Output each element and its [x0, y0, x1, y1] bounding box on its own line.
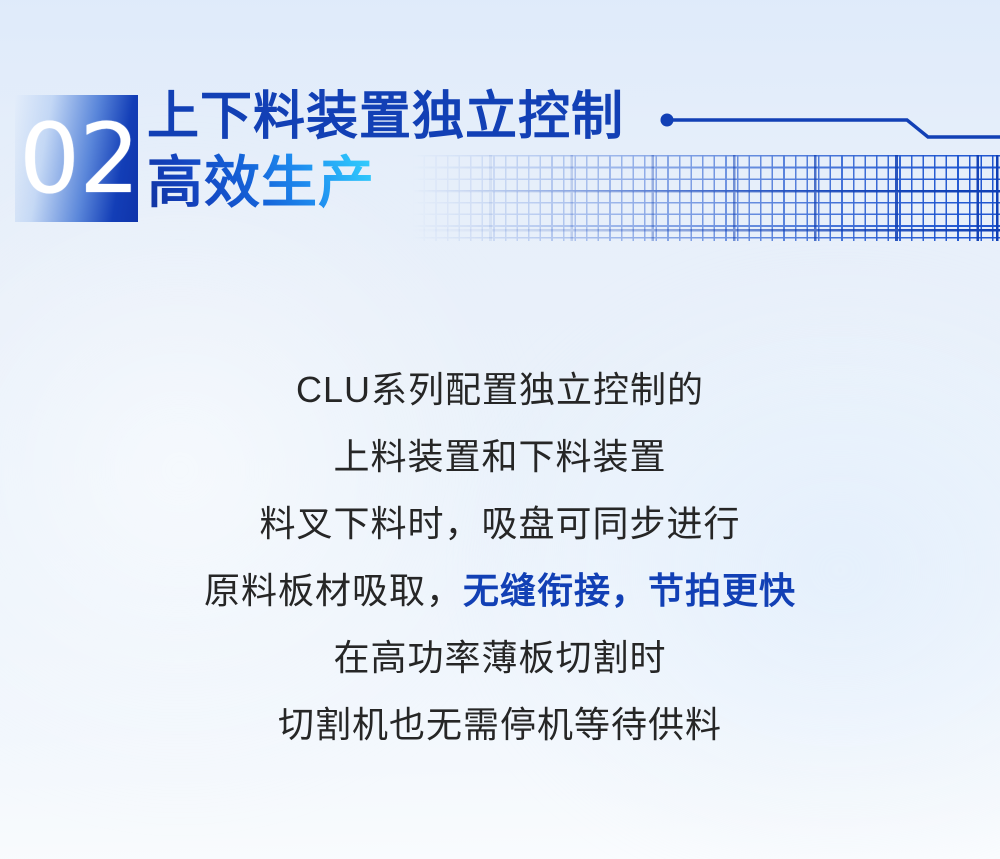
page-title-line-2: 高效生产 [147, 150, 375, 216]
body-line: 原料板材吸取，无缝衔接，节拍更快 [0, 557, 1000, 624]
body-line: 料叉下料时，吸盘可同步进行 [0, 490, 1000, 557]
body-line-text: CLU系列配置独立控制的 [296, 369, 704, 410]
page-title-line-1: 上下料装置独立控制 [147, 86, 624, 148]
connector-polyline-icon [655, 100, 1000, 160]
body-line: 上料装置和下料装置 [0, 423, 1000, 490]
section-number: 02 [19, 111, 138, 207]
body-line-text: 上料装置和下料装置 [333, 436, 666, 477]
section-number-badge: 02 [15, 95, 138, 222]
body-line-highlight: 无缝衔接，节拍更快 [463, 570, 796, 611]
body-line-text: 料叉下料时，吸盘可同步进行 [259, 503, 740, 544]
body-line: 在高功率薄板切割时 [0, 624, 1000, 691]
body-line-text: 在高功率薄板切割时 [333, 637, 666, 678]
body-line: CLU系列配置独立控制的 [0, 356, 1000, 423]
grid-pattern-accent-icon [412, 155, 1000, 241]
body-line: 切割机也无需停机等待供料 [0, 691, 1000, 758]
body-copy: CLU系列配置独立控制的 上料装置和下料装置 料叉下料时，吸盘可同步进行 原料板… [0, 356, 1000, 758]
body-line-text: 原料板材吸取， [204, 570, 463, 611]
body-line-text: 切割机也无需停机等待供料 [278, 704, 722, 745]
promo-section: 02 上下料装置独立控制 高效生产 CLU系列配置独立控制的 上料装置和下料装置… [0, 0, 1000, 859]
